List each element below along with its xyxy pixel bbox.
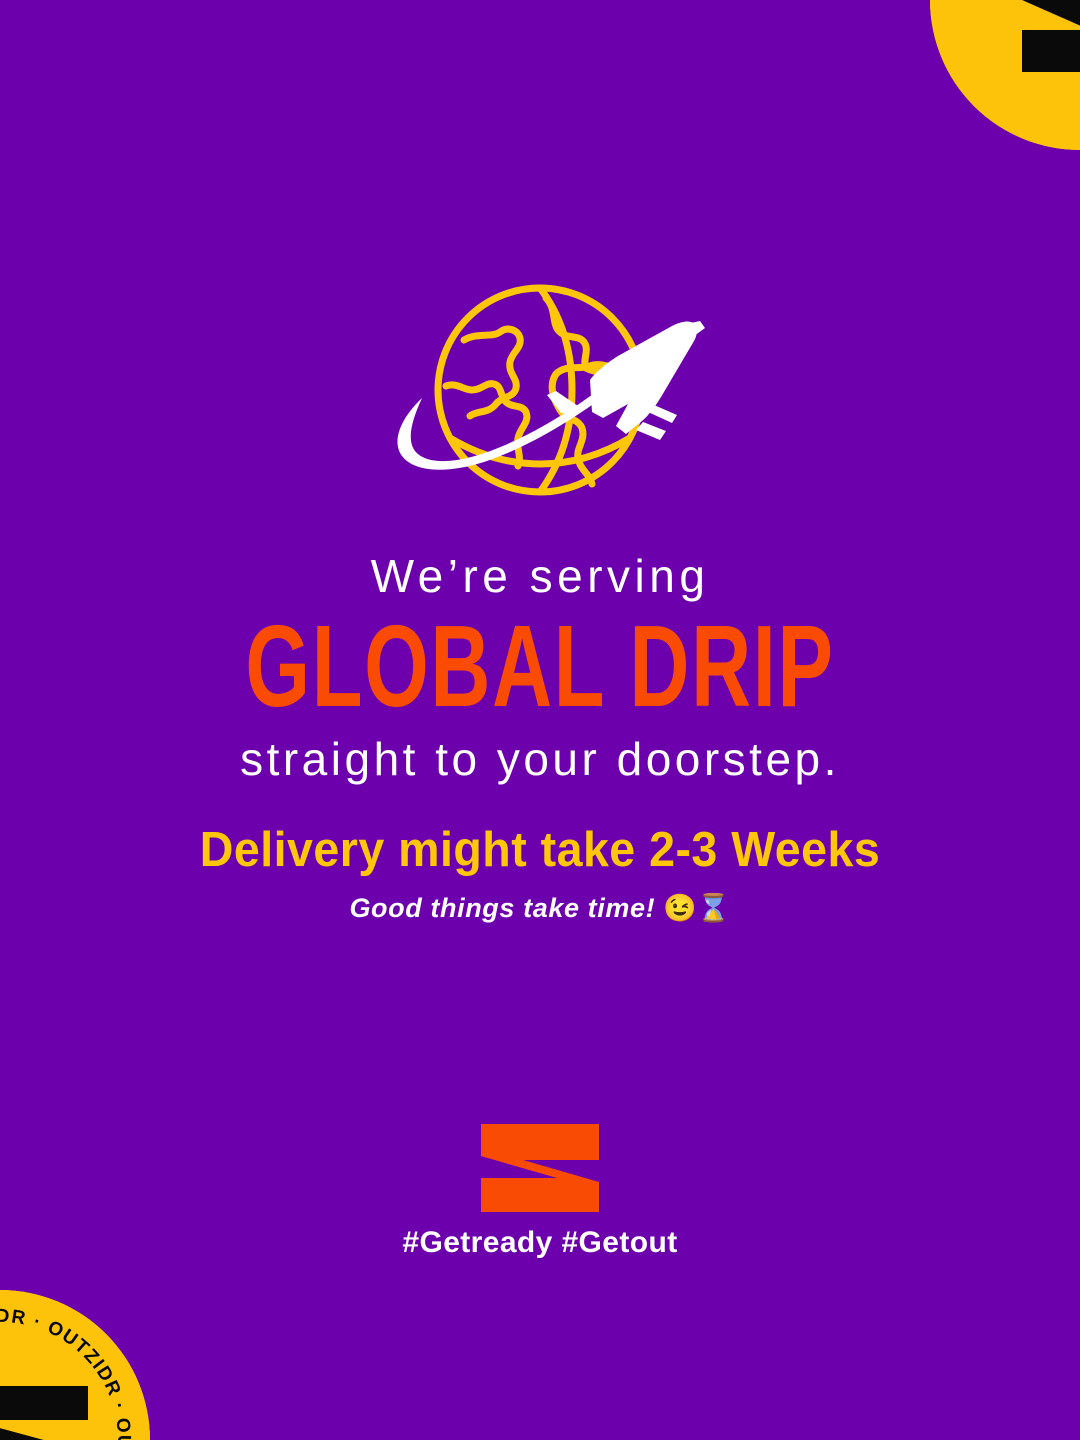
outzidr-badge-top-right: OUTZIDR · OUTZIDR · OUTZIDR · OUTZIDR · [930, 0, 1080, 150]
badge-circle [930, 0, 1080, 150]
badge-artwork-top-right: OUTZIDR · OUTZIDR · OUTZIDR · OUTZIDR · [930, 0, 1080, 150]
z-logo-mark [477, 1122, 603, 1214]
headline-line-1: We’re serving [0, 552, 1080, 600]
headline-line-2: GLOBAL DRIP [108, 599, 972, 736]
outzidr-badge-bottom-left: OUTZIDR · OUTZIDR · OUTZIDR · OUTZIDR · … [0, 1290, 150, 1440]
delivery-subtext-label: Good things take time! [349, 893, 655, 923]
globe-airplane-illustration [360, 278, 720, 508]
delivery-subtext: Good things take time! 😉⌛ [0, 892, 1080, 924]
delivery-notice-block: Delivery might take 2-3 Weeks Good thing… [0, 822, 1080, 924]
wink-hourglass-emoji: 😉⌛ [663, 893, 730, 923]
z-logo-shape [481, 1124, 599, 1212]
headline-line-3: straight to your doorstep. [0, 735, 1080, 783]
globe-airplane-artwork [360, 278, 720, 508]
footer-block: #Getready #Getout [0, 1122, 1080, 1260]
hashtags-text: #Getready #Getout [0, 1226, 1080, 1260]
delivery-time-text: Delivery might take 2-3 Weeks [27, 822, 1053, 878]
headline-block: We’re serving GLOBAL DRIP straight to yo… [0, 552, 1080, 783]
badge-artwork-bottom-left: OUTZIDR · OUTZIDR · OUTZIDR · OUTZIDR · … [0, 1290, 150, 1440]
